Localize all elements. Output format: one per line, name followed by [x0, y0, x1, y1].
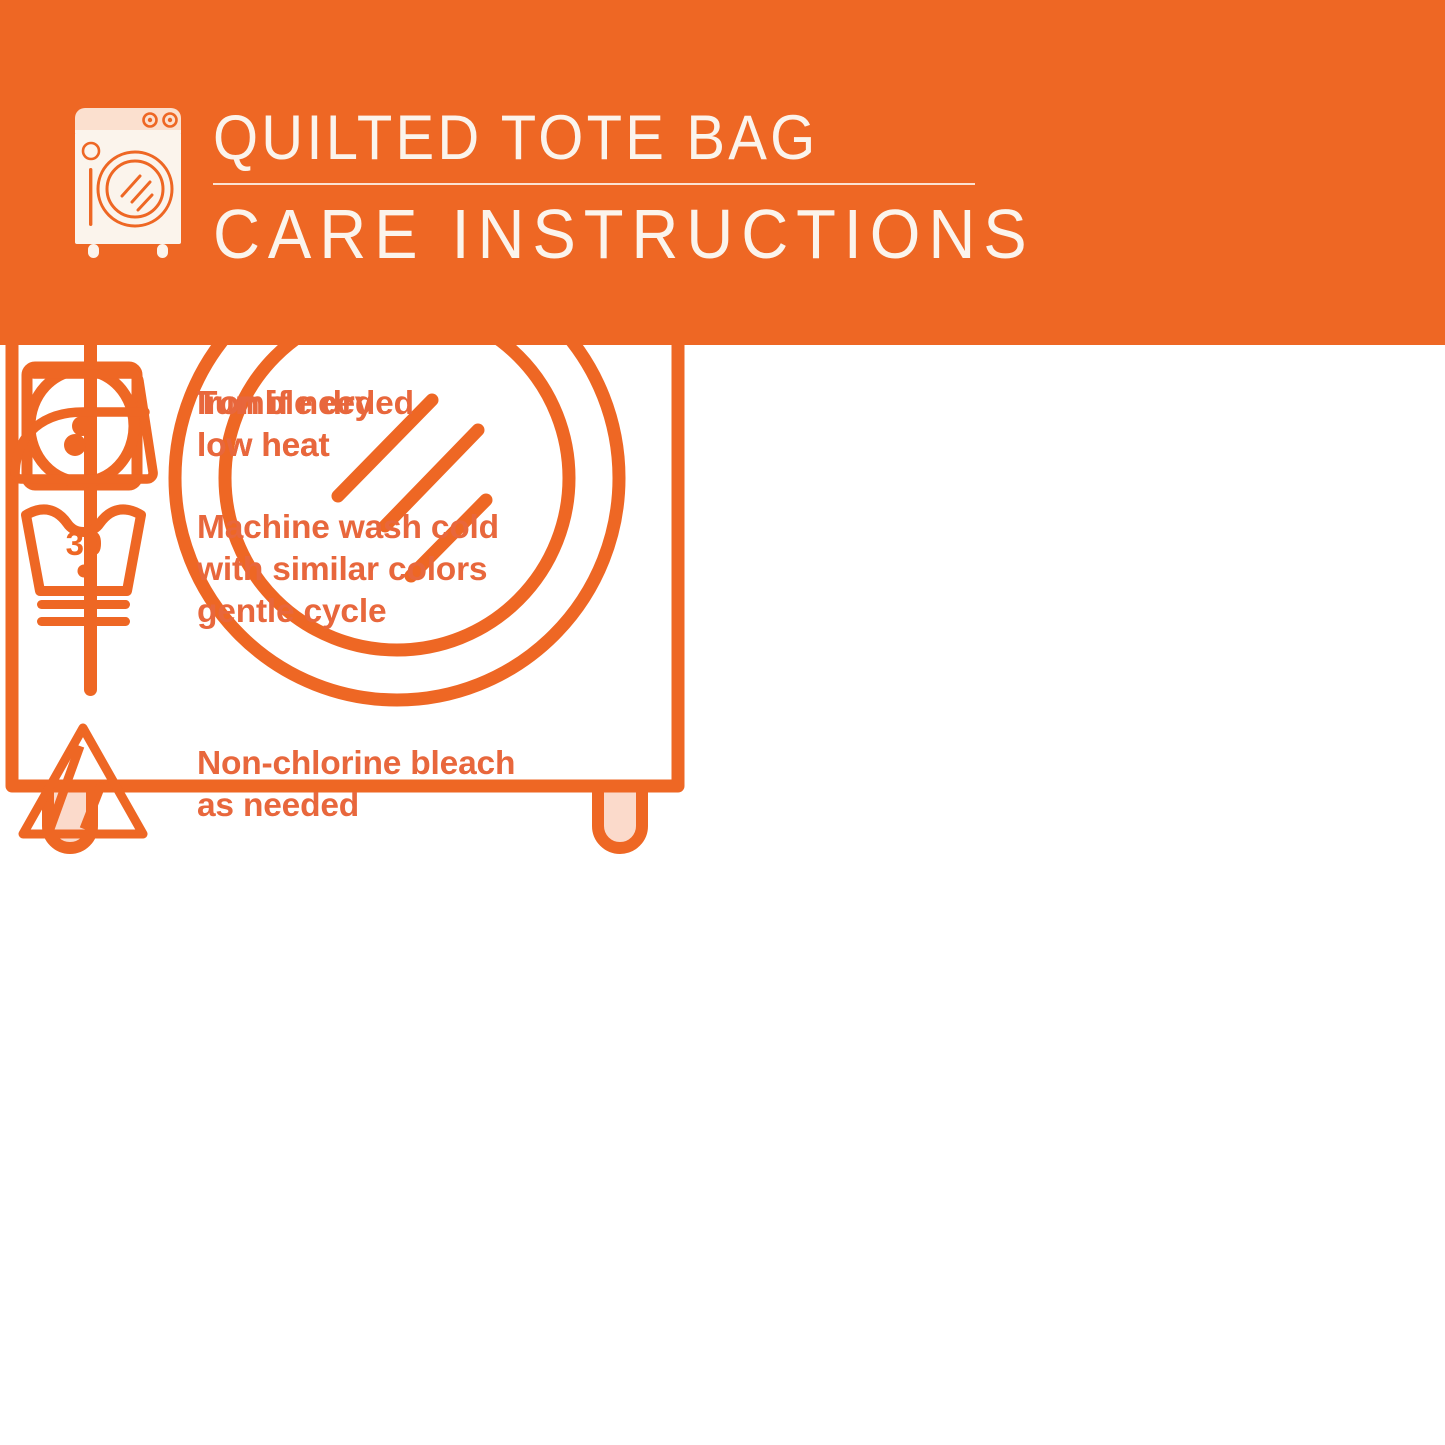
- care-line: Non-chlorine bleach: [197, 743, 515, 785]
- care-line: with similar colors: [197, 549, 499, 591]
- care-row-iron-label: Iron if needed low heat: [180, 383, 414, 467]
- care-row-machine-wash-label: Machine wash cold with similar colors ge…: [180, 507, 499, 633]
- care-instruction-list: 30 Machine wash cold with similar colors…: [0, 345, 700, 1445]
- header-band: QUILTED TOTE BAG CARE INSTRUCTIONS: [0, 0, 1445, 345]
- iron-low-heat-icon: [0, 345, 180, 505]
- care-row-bleach-label: Non-chlorine bleach as needed: [180, 743, 515, 827]
- washing-machine-icon: [62, 100, 194, 260]
- care-line: Machine wash cold: [197, 507, 499, 549]
- care-instructions-page: QUILTED TOTE BAG CARE INSTRUCTIONS 30: [0, 0, 1445, 1445]
- page-subtitle: CARE INSTRUCTIONS: [213, 196, 948, 272]
- care-line: low heat: [197, 425, 414, 467]
- non-chlorine-bleach-triangle-icon: [0, 705, 180, 865]
- care-row-iron: Iron if needed low heat: [0, 345, 700, 505]
- page-title: QUILTED TOTE BAG: [213, 103, 940, 173]
- machine-wash-tub-icon: 30: [0, 490, 180, 650]
- wash-temperature-label: 30: [66, 525, 103, 562]
- care-row-machine-wash: 30 Machine wash cold with similar colors…: [0, 485, 700, 655]
- care-line: Iron if needed: [197, 383, 414, 425]
- header-text-block: QUILTED TOTE BAG CARE INSTRUCTIONS: [213, 103, 1003, 272]
- care-row-bleach: Non-chlorine bleach as needed: [0, 700, 700, 870]
- care-line: as needed: [197, 785, 515, 827]
- care-line: gentle cycle: [197, 591, 499, 633]
- title-divider: [213, 183, 975, 185]
